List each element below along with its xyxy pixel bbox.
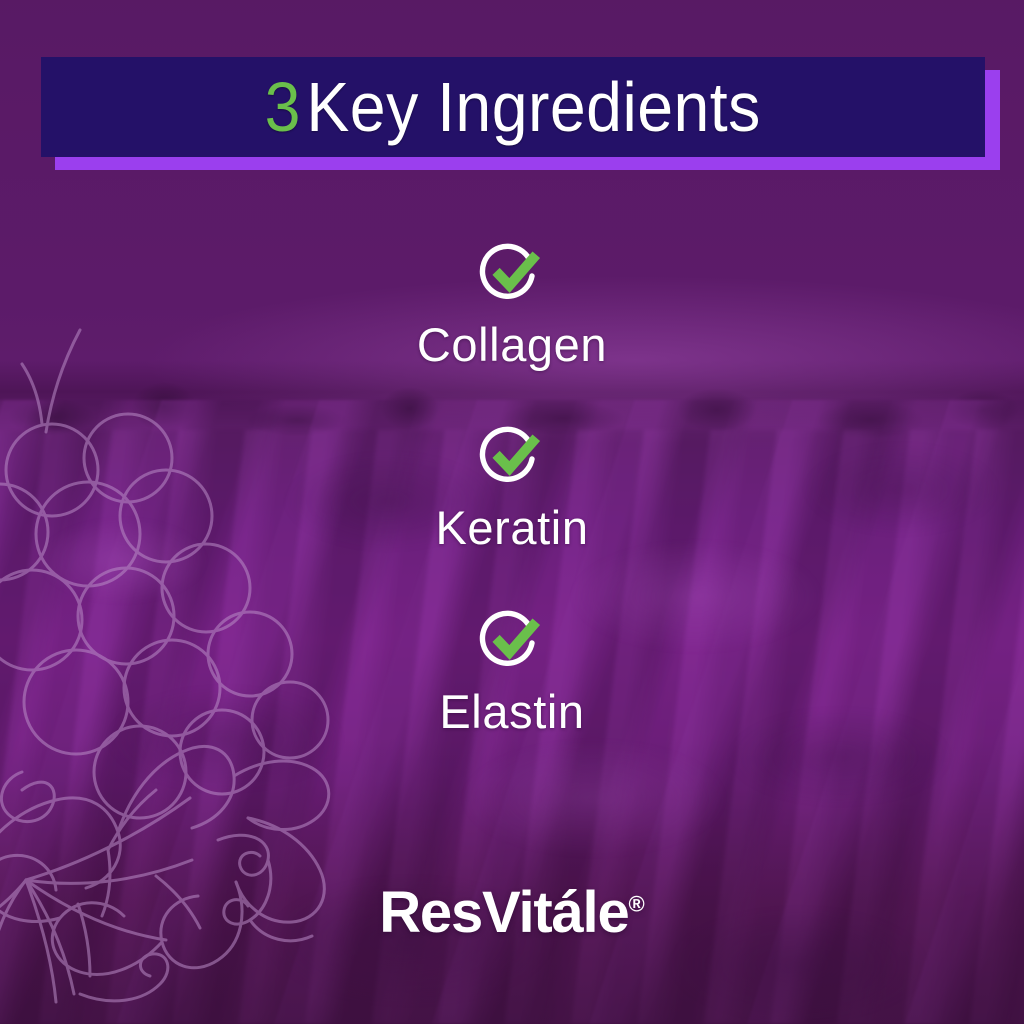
brand-logo: ResVitále® [0, 884, 1024, 942]
check-circle-icon [476, 238, 548, 310]
ingredient-label: Keratin [435, 503, 588, 552]
header-banner: 3Key Ingredients [41, 57, 1000, 173]
banner-box: 3Key Ingredients [41, 57, 985, 157]
promo-graphic: 3Key Ingredients Collagen Keratin El [0, 0, 1024, 1024]
ingredient-list: Collagen Keratin Elastin [0, 238, 1024, 736]
ingredient-label: Elastin [439, 687, 584, 736]
ingredient-item: Elastin [439, 605, 584, 736]
brand-name: ResVitále [379, 880, 628, 945]
ingredient-item: Keratin [435, 421, 588, 552]
ingredient-label: Collagen [417, 320, 607, 369]
page-title: 3Key Ingredients [265, 72, 761, 142]
registered-trademark-icon: ® [629, 892, 645, 917]
check-circle-icon [476, 421, 548, 493]
check-circle-icon [476, 605, 548, 677]
title-text: Key Ingredients [307, 68, 761, 146]
ingredient-item: Collagen [417, 238, 607, 369]
title-number: 3 [265, 68, 301, 146]
